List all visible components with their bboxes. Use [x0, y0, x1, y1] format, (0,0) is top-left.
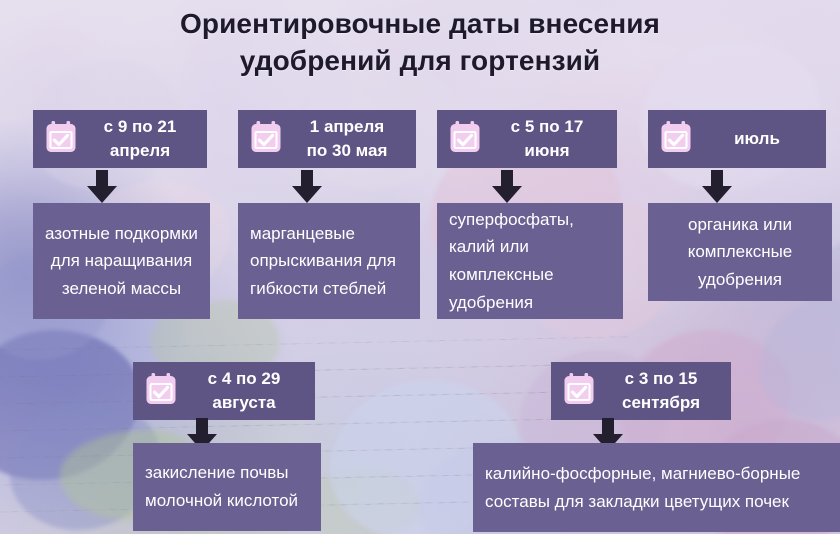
- calendar-check-icon: [445, 117, 485, 162]
- calendar-check-icon: [41, 117, 81, 162]
- date-badge-july[interactable]: июль: [648, 110, 826, 168]
- body-text-july: органика или комплексные удобрения: [648, 205, 832, 300]
- calendar-check-icon: [559, 369, 599, 414]
- date-badge-september[interactable]: с 3 по 15 сентября: [551, 362, 731, 420]
- calendar-check-icon: [656, 117, 696, 162]
- body-box-april: азотные подкормки для наращивания зелено…: [33, 203, 210, 319]
- date-badge-june-text: с 5 по 17 июня: [485, 115, 617, 163]
- body-text-april-may: марганцевые опрыскивания для гибкости ст…: [238, 214, 420, 309]
- page-title: Ориентировочные даты внесения удобрений …: [0, 6, 840, 80]
- body-box-august: закисление почвы молочной кислотой: [133, 443, 321, 531]
- date-badge-april-may-text: 1 апреля по 30 мая: [286, 115, 416, 163]
- body-box-july: органика или комплексные удобрения: [648, 203, 832, 301]
- body-box-april-may: марганцевые опрыскивания для гибкости ст…: [238, 203, 420, 319]
- date-badge-june[interactable]: с 5 по 17 июня: [437, 110, 617, 168]
- calendar-check-icon: [246, 117, 286, 162]
- arrow-down-icon-july: [697, 170, 737, 204]
- infographic-canvas: Ориентировочные даты внесения удобрений …: [0, 0, 840, 534]
- date-badge-april[interactable]: с 9 по 21 апреля: [33, 110, 207, 168]
- date-badge-august-text: с 4 по 29 августа: [181, 367, 315, 415]
- date-badge-september-text: с 3 по 15 сентября: [599, 367, 731, 415]
- body-text-april: азотные подкормки для наращивания зелено…: [33, 214, 210, 309]
- body-box-september: калийно-фосфорные, магниево-борные соста…: [473, 443, 840, 532]
- arrow-down-icon-june: [487, 170, 527, 204]
- arrow-down-icon-april: [82, 170, 122, 204]
- page-title-line-2: удобрений для гортензий: [0, 43, 840, 80]
- date-badge-april-may[interactable]: 1 апреля по 30 мая: [238, 110, 416, 168]
- body-box-june: суперфосфаты, калий или комплексные удоб…: [437, 203, 623, 319]
- body-text-august: закисление почвы молочной кислотой: [133, 453, 321, 520]
- page-title-line-1: Ориентировочные даты внесения: [0, 6, 840, 43]
- body-text-september: калийно-фосфорные, магниево-борные соста…: [473, 454, 840, 521]
- arrow-down-icon-april-may: [287, 170, 327, 204]
- date-badge-august[interactable]: с 4 по 29 августа: [133, 362, 315, 420]
- calendar-check-icon: [141, 369, 181, 414]
- date-badge-april-text: с 9 по 21 апреля: [81, 115, 207, 163]
- date-badge-july-text: июль: [696, 127, 826, 151]
- body-text-june: суперфосфаты, калий или комплексные удоб…: [437, 200, 623, 322]
